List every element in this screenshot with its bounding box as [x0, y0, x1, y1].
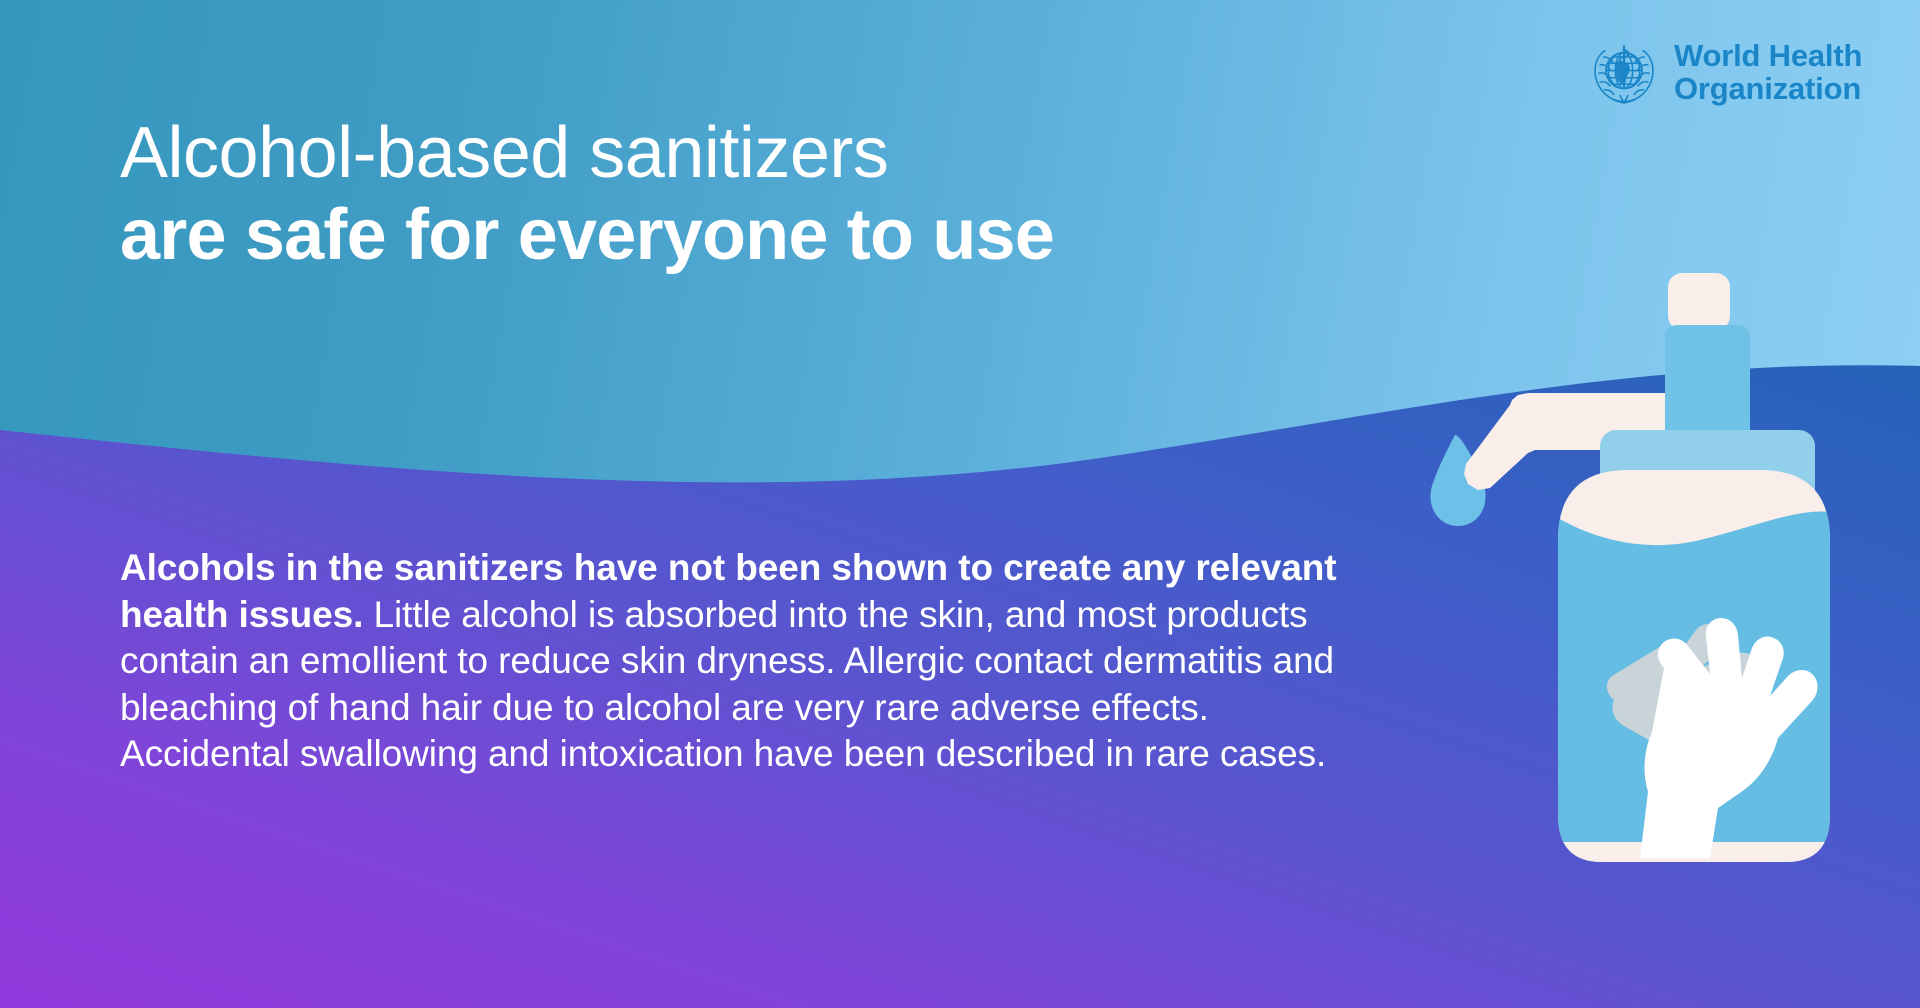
sanitizer-illustration [1400, 250, 1920, 890]
who-emblem-icon [1588, 36, 1660, 108]
who-logo: World HealthOrganization [1588, 33, 1888, 111]
pump-nozzle-top [1668, 273, 1730, 330]
headline-line-1: Alcohol-based sanitizers [120, 112, 1460, 196]
who-wordmark-line1: World Health [1674, 38, 1862, 73]
who-wordmark: World HealthOrganization [1674, 39, 1862, 106]
poster-canvas: World HealthOrganization Alcohol-based s… [0, 0, 1920, 1008]
headline-block: Alcohol-based sanitizers are safe for ev… [120, 112, 1460, 277]
who-wordmark-line2: Organization [1674, 71, 1861, 106]
body-paragraph: Alcohols in the sanitizers have not been… [120, 545, 1350, 778]
headline-line-2: are safe for everyone to use [120, 194, 1460, 278]
